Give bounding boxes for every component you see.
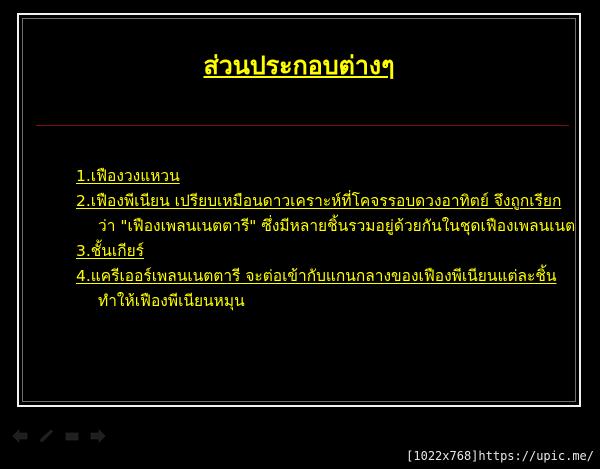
title-divider: [36, 125, 569, 126]
list-item: 2.เฟืองพีเนียน เปรียบเหมือนดาวเคราะห์ที่…: [76, 189, 563, 214]
watermark-label: [1022x768]https://upic.me/: [406, 449, 594, 463]
slide-body-list: 1.เฟืองวงแหวน 2.เฟืองพีเนียน เปรียบเหมือ…: [76, 164, 563, 314]
previous-slide-button[interactable]: [10, 426, 30, 446]
stop-button[interactable]: [62, 426, 82, 446]
left-arrow-icon: [11, 429, 29, 443]
list-item-continuation: ว่า "เฟืองเพลนเนตตารี" ซึ่งมีหลายชิ้นรวม…: [76, 214, 563, 239]
pen-icon: [38, 428, 54, 444]
right-arrow-icon: [89, 429, 107, 443]
list-item-continuation: ทำให้เฟืองพีเนียนหมุน: [76, 289, 563, 314]
slide-frame-inner: ส่วนประกอบต่างๆ 1.เฟืองวงแหวน 2.เฟืองพีเ…: [22, 18, 576, 402]
list-item: 4.แครีเออร์เพลนเนตตารี จะต่อเข้ากับแกนกล…: [76, 264, 563, 289]
list-item-heading: 1.เฟืองวงแหวน: [76, 167, 180, 185]
slide-title: ส่วนประกอบต่างๆ: [23, 52, 575, 80]
stop-square-icon: [64, 429, 80, 443]
list-item-text: ว่า "เฟืองเพลนเนตตารี" ซึ่งมีหลายชิ้นรวม…: [98, 217, 576, 235]
list-item-text: เปรียบเหมือนดาวเคราะห์ที่โคจรรอบดวงอาทิต…: [170, 192, 562, 210]
list-item: 3.ชั้นเกียร์: [76, 239, 563, 264]
slide-toolbar: [1022x768]https://upic.me/: [0, 412, 600, 469]
list-item-heading: 2.เฟืองพีเนียน: [76, 192, 170, 210]
list-item-heading: 4.แครีเออร์เพลนเนตตารี: [76, 267, 240, 285]
list-item-text: จะต่อเข้ากับแกนกลางของเฟืองพีเนียนแต่ละช…: [240, 267, 556, 285]
list-item-text: ทำให้เฟืองพีเนียนหมุน: [98, 292, 245, 310]
list-item: 1.เฟืองวงแหวน: [76, 164, 563, 189]
slide-frame-outer: ส่วนประกอบต่างๆ 1.เฟืองวงแหวน 2.เฟืองพีเ…: [17, 13, 581, 407]
list-item-heading: 3.ชั้นเกียร์: [76, 242, 144, 260]
next-slide-button[interactable]: [88, 426, 108, 446]
slide-viewer: ส่วนประกอบต่างๆ 1.เฟืองวงแหวน 2.เฟืองพีเ…: [0, 0, 600, 412]
pen-tool-button[interactable]: [36, 426, 56, 446]
